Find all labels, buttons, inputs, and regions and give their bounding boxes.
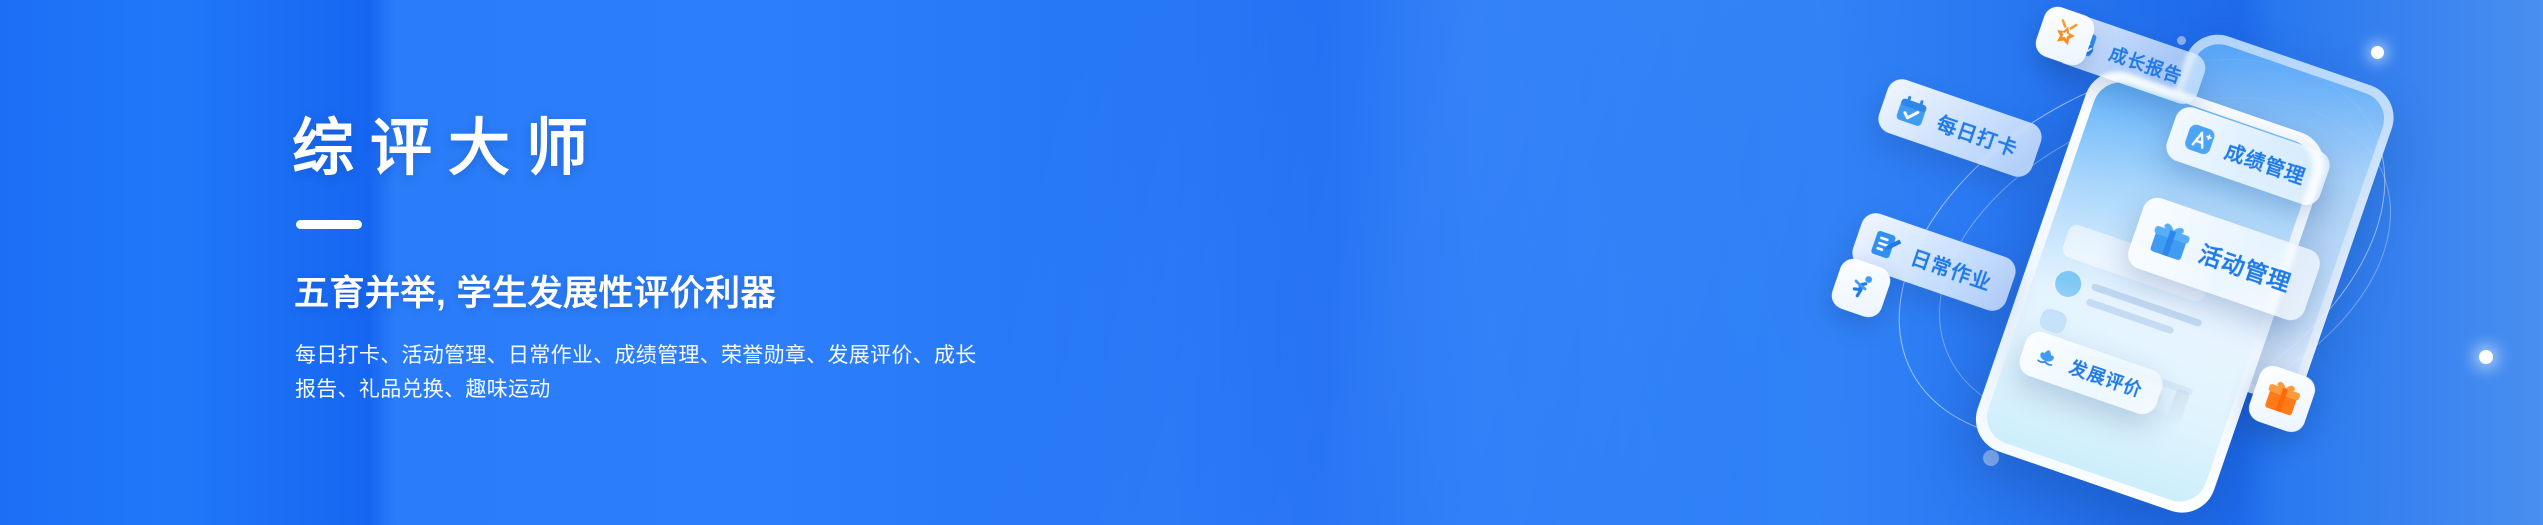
hero-illustration: 成长报告 每日打卡 成绩管理 日常作业 活动管理 — [1843, 0, 2543, 525]
feature-chip-label: 每日打卡 — [1934, 107, 2023, 162]
sparkle-dot — [1983, 450, 1999, 466]
description-line-1: 每日打卡、活动管理、日常作业、成绩管理、荣誉勋章、发展评价、成长 — [295, 339, 835, 373]
screen-placeholder-block — [2163, 388, 2191, 434]
title-divider — [296, 220, 362, 229]
feature-chip-daily-checkin[interactable]: 每日打卡 — [1874, 75, 2045, 181]
grade-a-plus-icon — [2178, 118, 2221, 161]
page-title: 综评大师 — [292, 118, 835, 180]
hero-copy: 综评大师 五育并举, 学生发展性评价利器 每日打卡、活动管理、日常作业、成绩管理… — [292, 0, 835, 525]
feature-chip-label: 成长报告 — [2106, 40, 2186, 89]
honor-medal-icon — [2044, 13, 2086, 58]
hero-banner: 综评大师 五育并举, 学生发展性评价利器 每日打卡、活动管理、日常作业、成绩管理… — [0, 0, 2543, 525]
running-person-icon — [1840, 265, 1882, 310]
sparkle-dot — [2177, 36, 2186, 45]
sparkle-dot — [2479, 350, 2493, 364]
description-line-2: 报告、礼品兑换、趣味运动 — [295, 373, 835, 407]
screen-placeholder-icon — [2015, 398, 2040, 423]
homework-pen-icon — [1864, 224, 1907, 267]
calendar-check-icon — [1890, 90, 1933, 133]
sparkle-dot — [2371, 46, 2384, 59]
screen-placeholder-row — [2085, 298, 2174, 335]
gift-box-icon — [2143, 214, 2196, 267]
screen-placeholder-avatar — [2052, 267, 2085, 300]
flower-sprout-icon — [2029, 340, 2065, 376]
hero-subtitle: 五育并举, 学生发展性评价利器 — [294, 275, 835, 314]
orange-gift-icon — [2257, 372, 2307, 425]
feature-chip-label: 日常作业 — [1908, 241, 1997, 296]
screen-placeholder-icon — [2144, 442, 2169, 467]
hero-description: 每日打卡、活动管理、日常作业、成绩管理、荣誉勋章、发展评价、成长 报告、礼品兑换… — [295, 339, 835, 407]
feature-chip-label: 成绩管理 — [2222, 135, 2311, 190]
screen-placeholder-icon — [2079, 420, 2104, 445]
feature-chip-label: 活动管理 — [2195, 235, 2297, 298]
